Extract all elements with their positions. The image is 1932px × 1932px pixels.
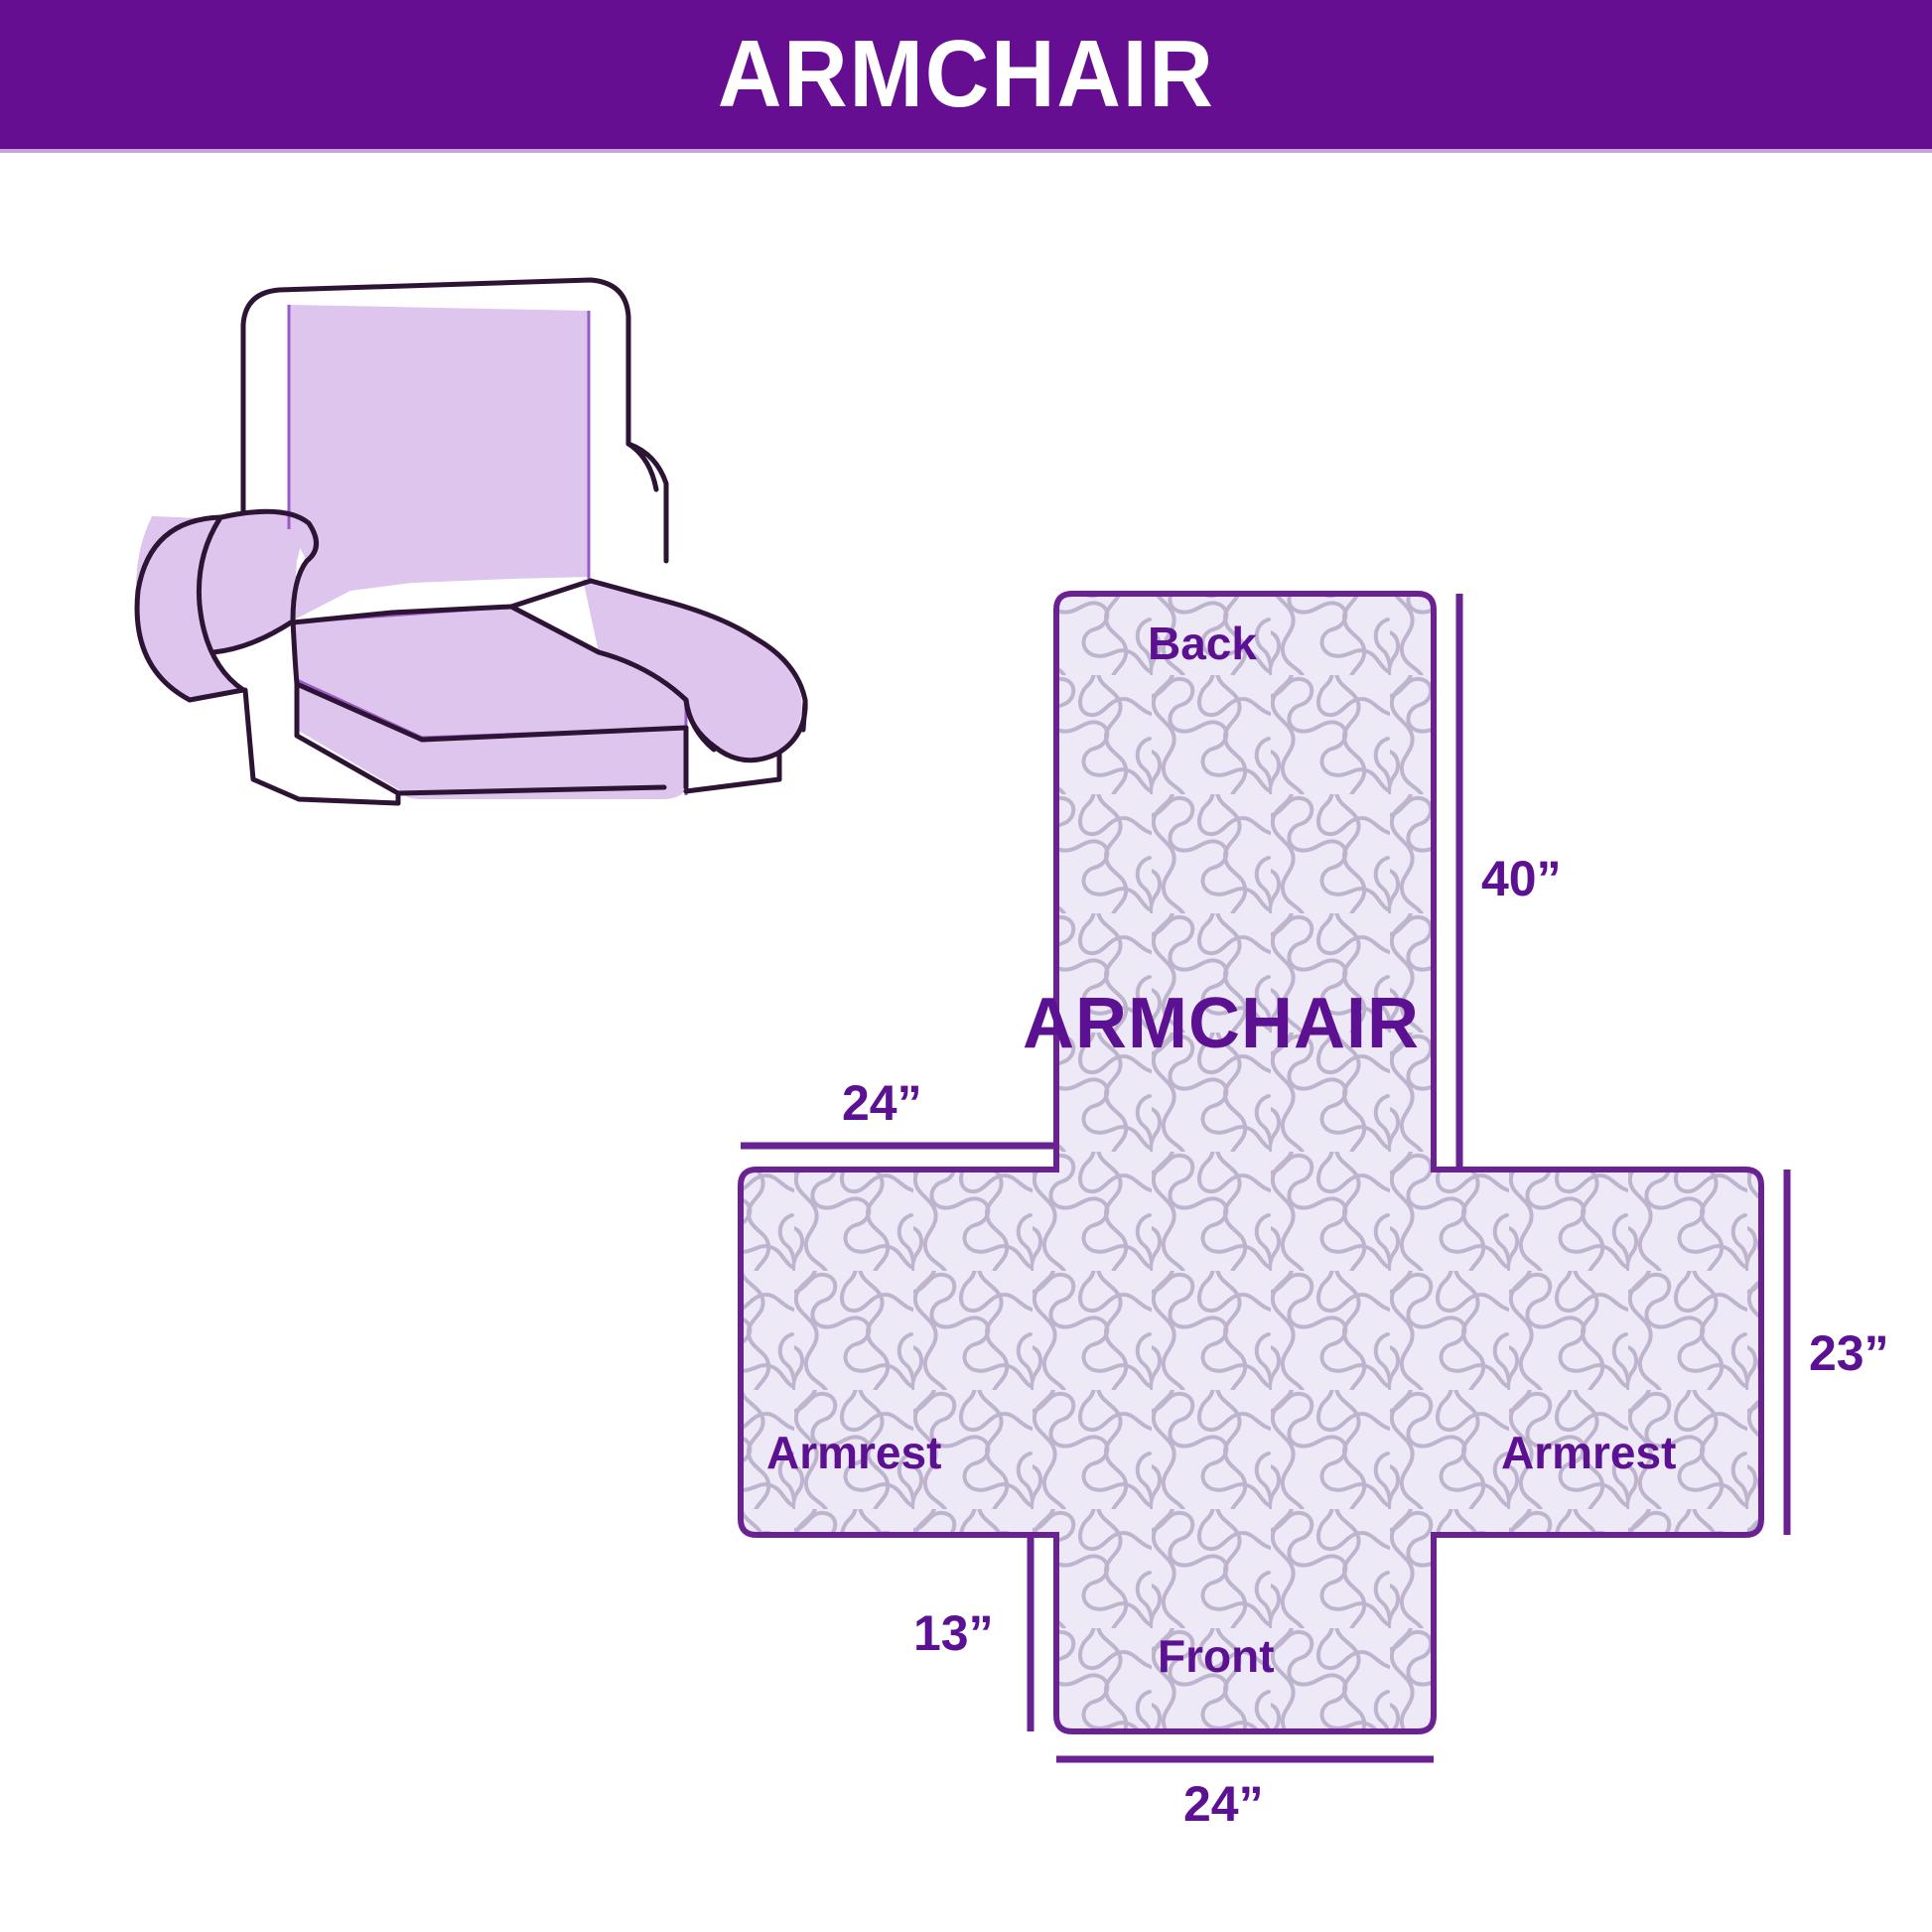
panel-label-armrest-right: Armrest	[1501, 1430, 1676, 1475]
cross-panel-shape	[675, 556, 1896, 1866]
dimension-label-front-height: 13”	[913, 1608, 994, 1658]
panel-label-armrest-left: Armrest	[766, 1430, 941, 1475]
slipcover-pattern-diagram: Back ARMCHAIR Armrest Armrest Front 40” …	[675, 556, 1896, 1866]
page-title: ARMCHAIR	[718, 27, 1215, 122]
dimension-label-body-height: 23”	[1809, 1328, 1889, 1378]
panel-label-back: Back	[1148, 621, 1257, 666]
header-banner: ARMCHAIR	[0, 0, 1932, 149]
product-size-diagram-page: ARMCHAIR	[0, 0, 1932, 1932]
panel-label-center: ARMCHAIR	[1023, 988, 1420, 1059]
panel-label-front: Front	[1158, 1633, 1275, 1679]
dimension-label-front-width: 24”	[1183, 1779, 1264, 1829]
header-divider	[0, 149, 1932, 153]
dimension-label-back-height: 40”	[1481, 854, 1562, 903]
dimension-label-left-armrest-width: 24”	[842, 1078, 922, 1128]
